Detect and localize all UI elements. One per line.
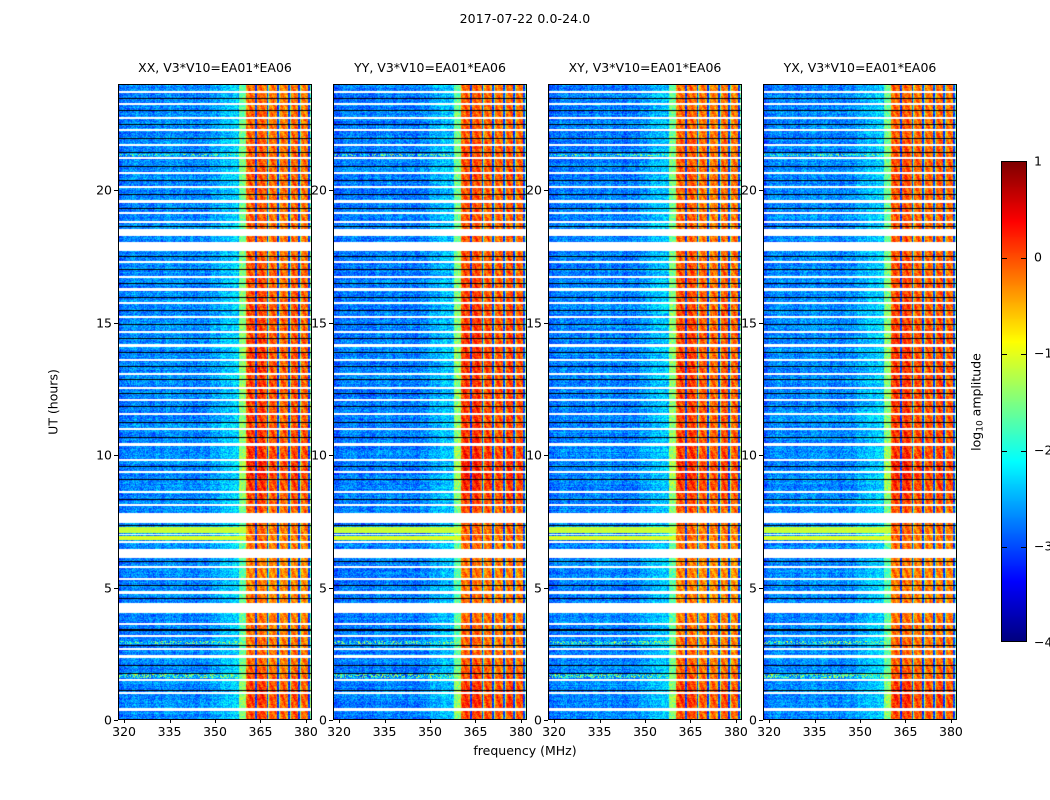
x-tick-label: 335	[803, 724, 827, 739]
y-tick-mark	[544, 455, 548, 456]
y-tick-label: 0	[319, 713, 327, 728]
panel-yy-x-tick-labels: 320335350365380	[333, 724, 527, 744]
colorbar-tick-label: −2	[1034, 442, 1050, 457]
x-tick-mark	[769, 719, 770, 723]
panel-yx-spectrogram-canvas	[764, 85, 956, 719]
y-tick-mark	[329, 720, 333, 721]
colorbar-tick-label: 0	[1034, 250, 1042, 265]
x-tick-label: 320	[757, 724, 781, 739]
x-tick-mark	[554, 719, 555, 723]
y-tick-label: 10	[311, 448, 327, 463]
panel-yx[interactable]: YX, V3*V10=EA01*EA0632033535036538005101…	[763, 84, 957, 720]
x-tick-mark	[905, 719, 906, 723]
y-tick-label: 0	[104, 713, 112, 728]
colorbar-tick-labels: 10−1−2−3−4	[1027, 161, 1050, 642]
colorbar-tick-label: −3	[1034, 538, 1050, 553]
panel-xx-title: XX, V3*V10=EA01*EA06	[118, 60, 312, 75]
panel-xy-y-tick-labels: 05101520	[514, 84, 548, 720]
x-tick-label: 365	[679, 724, 703, 739]
x-tick-label: 365	[894, 724, 918, 739]
x-tick-label: 380	[724, 724, 748, 739]
panel-yx-y-tick-labels: 05101520	[729, 84, 763, 720]
panel-yx-title: YX, V3*V10=EA01*EA06	[763, 60, 957, 75]
y-tick-mark	[759, 190, 763, 191]
x-tick-mark	[430, 719, 431, 723]
y-tick-mark	[114, 323, 118, 324]
x-tick-label: 335	[588, 724, 612, 739]
y-tick-label: 15	[526, 315, 542, 330]
panel-yy-y-tick-labels: 05101520	[299, 84, 333, 720]
panel-xx-y-tick-labels: 05101520	[84, 84, 118, 720]
x-tick-label: 335	[158, 724, 182, 739]
y-tick-label: 20	[526, 183, 542, 198]
colorbar-tick-label: 1	[1034, 154, 1042, 169]
panel-xx-heatmap[interactable]	[118, 84, 312, 720]
x-tick-mark	[215, 719, 216, 723]
x-tick-label: 365	[249, 724, 273, 739]
y-tick-mark	[759, 323, 763, 324]
y-tick-label: 15	[96, 315, 112, 330]
y-tick-mark	[759, 588, 763, 589]
panel-yy-spectrogram-canvas	[334, 85, 526, 719]
x-tick-label: 365	[464, 724, 488, 739]
panel-yx-x-tick-labels: 320335350365380	[763, 724, 957, 744]
x-tick-label: 320	[327, 724, 351, 739]
y-tick-label: 5	[749, 580, 757, 595]
y-axis-label: UT (hours)	[46, 369, 61, 435]
panel-xy[interactable]: XY, V3*V10=EA01*EA0632033535036538005101…	[548, 84, 742, 720]
y-tick-label: 15	[741, 315, 757, 330]
colorbar-tick-mark	[1021, 547, 1026, 548]
y-tick-mark	[114, 588, 118, 589]
x-tick-mark	[645, 719, 646, 723]
y-tick-label: 10	[96, 448, 112, 463]
y-tick-label: 20	[311, 183, 327, 198]
y-tick-mark	[329, 588, 333, 589]
y-tick-mark	[544, 720, 548, 721]
panel-xx-x-tick-labels: 320335350365380	[118, 724, 312, 744]
colorbar-tick-mark	[1021, 258, 1026, 259]
x-tick-label: 350	[848, 724, 872, 739]
colorbar-tick-label: −4	[1034, 635, 1050, 650]
colorbar-tick-mark	[1021, 354, 1026, 355]
x-tick-mark	[260, 719, 261, 723]
figure-suptitle: 2017-07-22 0.0-24.0	[0, 11, 1050, 26]
y-tick-mark	[759, 720, 763, 721]
y-tick-mark	[114, 720, 118, 721]
colorbar-tick-mark	[1002, 354, 1007, 355]
x-tick-label: 350	[418, 724, 442, 739]
x-tick-mark	[600, 719, 601, 723]
panel-xx-spectrogram-canvas	[119, 85, 311, 719]
panel-yx-heatmap[interactable]	[763, 84, 957, 720]
colorbar-tick-mark	[1002, 547, 1007, 548]
panel-yy-heatmap[interactable]	[333, 84, 527, 720]
x-axis-label: frequency (MHz)	[0, 743, 1050, 758]
panel-xy-x-tick-labels: 320335350365380	[548, 724, 742, 744]
colorbar-label-tail: amplitude	[969, 353, 984, 420]
y-tick-mark	[114, 190, 118, 191]
colorbar-label: log10 amplitude	[969, 353, 986, 451]
colorbar-tick-mark	[1002, 451, 1007, 452]
x-tick-label: 380	[939, 724, 963, 739]
x-tick-mark	[475, 719, 476, 723]
colorbar-label-main: log	[969, 432, 984, 451]
panel-yy-title: YY, V3*V10=EA01*EA06	[333, 60, 527, 75]
x-tick-label: 380	[294, 724, 318, 739]
y-tick-mark	[329, 190, 333, 191]
colorbar-tick-label: −1	[1034, 346, 1050, 361]
x-tick-mark	[339, 719, 340, 723]
y-tick-label: 10	[741, 448, 757, 463]
x-tick-mark	[815, 719, 816, 723]
colorbar-label-subscript: 10	[975, 420, 985, 431]
figure-canvas: 2017-07-22 0.0-24.0 XX, V3*V10=EA01*EA06…	[0, 0, 1050, 800]
panel-xy-title: XY, V3*V10=EA01*EA06	[548, 60, 742, 75]
x-tick-label: 350	[633, 724, 657, 739]
x-tick-label: 335	[373, 724, 397, 739]
y-tick-mark	[544, 190, 548, 191]
x-tick-label: 320	[542, 724, 566, 739]
colorbar: 10−1−2−3−4	[1001, 161, 1027, 642]
colorbar-tick-mark	[1021, 451, 1026, 452]
y-tick-mark	[544, 323, 548, 324]
panel-xy-spectrogram-canvas	[549, 85, 741, 719]
y-tick-label: 5	[104, 580, 112, 595]
y-tick-label: 20	[741, 183, 757, 198]
panel-xx[interactable]: XX, V3*V10=EA01*EA0632033535036538005101…	[118, 84, 312, 720]
y-tick-label: 0	[534, 713, 542, 728]
x-tick-mark	[860, 719, 861, 723]
y-tick-mark	[544, 588, 548, 589]
x-tick-mark	[170, 719, 171, 723]
x-tick-mark	[951, 719, 952, 723]
panel-yy[interactable]: YY, V3*V10=EA01*EA0632033535036538005101…	[333, 84, 527, 720]
y-tick-mark	[114, 455, 118, 456]
x-tick-label: 320	[112, 724, 136, 739]
x-tick-label: 380	[509, 724, 533, 739]
x-tick-mark	[385, 719, 386, 723]
y-tick-label: 10	[526, 448, 542, 463]
x-tick-mark	[690, 719, 691, 723]
x-tick-mark	[124, 719, 125, 723]
y-tick-label: 0	[749, 713, 757, 728]
colorbar-gradient	[1001, 161, 1027, 642]
y-tick-label: 5	[534, 580, 542, 595]
y-tick-mark	[329, 455, 333, 456]
y-tick-label: 20	[96, 183, 112, 198]
panel-xy-heatmap[interactable]	[548, 84, 742, 720]
y-tick-mark	[329, 323, 333, 324]
x-tick-label: 350	[203, 724, 227, 739]
y-tick-mark	[759, 455, 763, 456]
y-tick-label: 15	[311, 315, 327, 330]
y-tick-label: 5	[319, 580, 327, 595]
colorbar-tick-mark	[1002, 258, 1007, 259]
